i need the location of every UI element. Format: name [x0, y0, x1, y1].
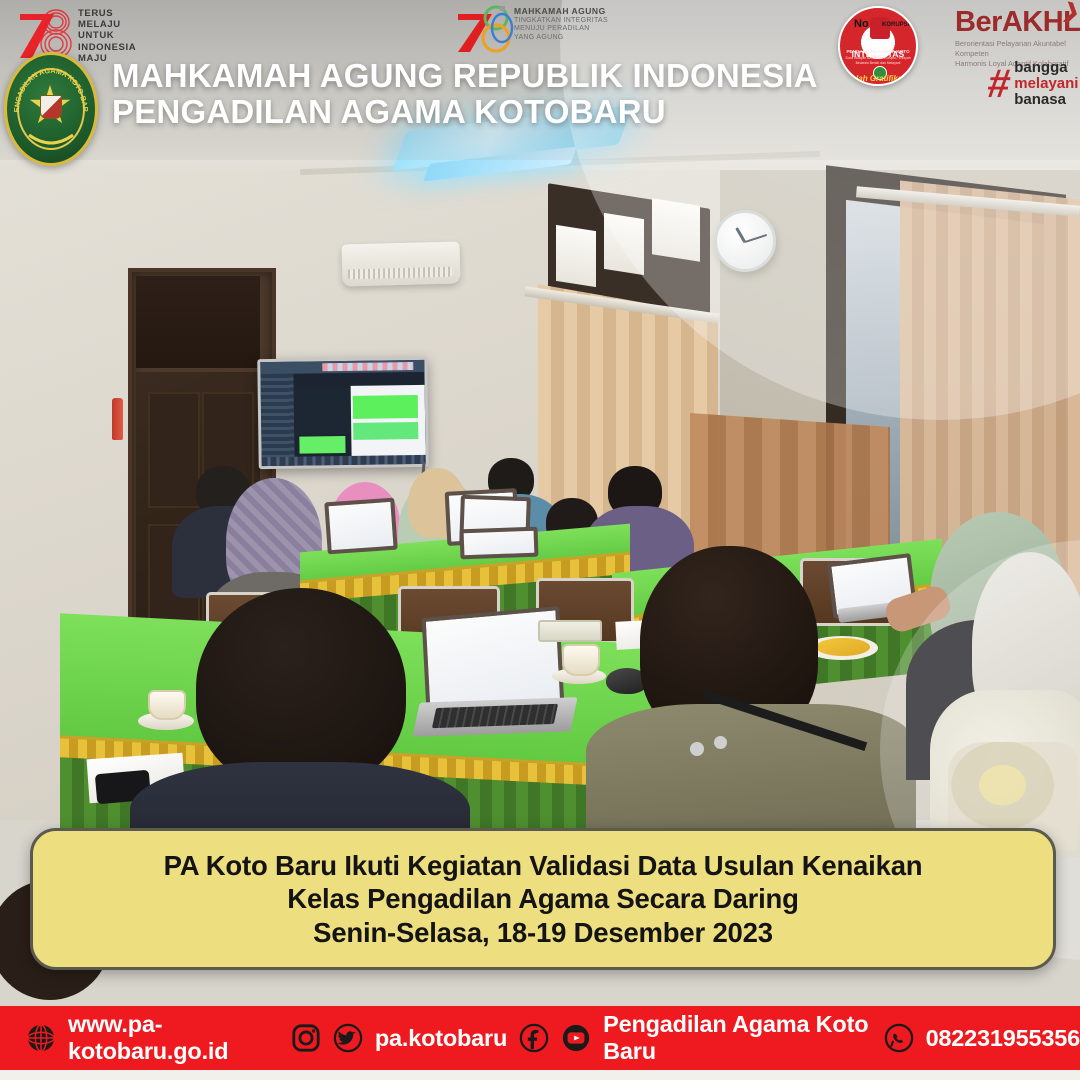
- tv-monitor: [257, 357, 429, 469]
- teacup: [148, 690, 186, 720]
- tissue-box: [538, 620, 602, 642]
- twitter-icon[interactable]: [333, 1023, 363, 1053]
- footer-phone[interactable]: 082231955356: [926, 1025, 1080, 1052]
- footer-social-handle[interactable]: pa.kotobaru: [375, 1025, 507, 1052]
- svg-text:PENGADILAN AGAMA KOTO BARU: PENGADILAN AGAMA KOTO BARU: [7, 55, 90, 113]
- zona-stamp: Telah Gratifikasi: [840, 74, 916, 83]
- uniform-button: [690, 742, 704, 756]
- caption-line-2: Kelas Pengadilan Agama Secara Daring: [287, 882, 798, 916]
- zona-integritas-badge-icon: No KORUPSI ZONA INTEGRITAS PENGADILAN AG…: [838, 6, 918, 86]
- door-panel: [148, 392, 200, 508]
- ma-logo-line3: YANG AGUNG: [514, 34, 608, 43]
- berakhlak-wordmark: BerAKHLAK ❯: [955, 8, 1080, 37]
- tagline-line: INDONESIA: [78, 42, 136, 53]
- footer-bar: www.pa-kotobaru.go.id pa.kotobaru Pengad…: [0, 1006, 1080, 1070]
- stop-hand-icon: [870, 17, 890, 39]
- ma-logo-line1: TINGKATKAN INTEGRITAS: [514, 17, 608, 26]
- zona-korupsi-label: KORUPSI: [882, 22, 909, 28]
- laptop: [460, 527, 539, 560]
- window-pane: [556, 225, 596, 287]
- hashtag-icon: #: [986, 68, 1013, 100]
- snack-food: [816, 638, 870, 656]
- bangga-line2: melayani: [1014, 76, 1078, 92]
- fire-extinguisher-icon: [112, 398, 123, 440]
- caption-box: PA Koto Baru Ikuti Kegiatan Validasi Dat…: [30, 828, 1056, 970]
- court-emblem-icon: PENGADILAN AGAMA KOTO BARU: [4, 52, 98, 166]
- globe-icon[interactable]: [26, 1023, 56, 1053]
- zona-meta: Zona Wilayah Bebas dari Korupsi / Wilaya…: [840, 56, 916, 65]
- laptop: [324, 498, 397, 555]
- bangga-text: bangga melayani banasa: [1014, 60, 1078, 107]
- bangga-melayani-bangsa-logo: # bangga melayani banasa: [988, 60, 1078, 107]
- berakhlak-word-a: BerAKHLA: [955, 6, 1080, 38]
- footer-website[interactable]: www.pa-kotobaru.go.id: [68, 1011, 279, 1065]
- mahkamah-agung-logo-text: MAHKAMAH AGUNG TINGKATKAN INTEGRITAS MEN…: [514, 6, 608, 43]
- footer-base-strip: [0, 1070, 1080, 1080]
- poster-canvas: TERUS MELAJU UNTUK INDONESIA MAJU PENGAD…: [0, 0, 1080, 1080]
- title-line-2: PENGADILAN AGAMA KOTOBARU: [112, 94, 818, 130]
- facebook-icon[interactable]: [519, 1023, 549, 1053]
- tagline-line: MELAJU: [78, 19, 136, 30]
- tagline-line: UNTUK: [78, 30, 136, 41]
- ma-logo-name: MAHKAMAH AGUNG: [514, 6, 608, 17]
- bangga-line3: banasa: [1014, 92, 1078, 108]
- berakhlak-tagline-line1: Berorientasi Pelayanan Akuntabel Kompete…: [955, 39, 1077, 59]
- whatsapp-icon[interactable]: [884, 1023, 914, 1053]
- zona-no-label: No: [854, 18, 869, 30]
- footer-page-name[interactable]: Pengadilan Agama Koto Baru: [603, 1011, 871, 1065]
- page-title: MAHKAMAH AGUNG REPUBLIK INDONESIA PENGAD…: [112, 58, 818, 129]
- instagram-icon[interactable]: [291, 1023, 321, 1053]
- tagline-line: TERUS: [78, 8, 136, 19]
- teacup: [562, 644, 600, 676]
- uniform-button: [714, 736, 727, 749]
- door-transom: [136, 276, 260, 368]
- air-conditioner-icon: [341, 241, 460, 286]
- bangga-line1: bangga: [1014, 60, 1078, 76]
- berakhlak-arrow-icon: ❯: [1061, 0, 1080, 23]
- ma-logo-line2: MENUJU PERADILAN: [514, 25, 608, 34]
- title-line-1: MAHKAMAH AGUNG REPUBLIK INDONESIA: [112, 58, 818, 94]
- youtube-icon[interactable]: [561, 1023, 591, 1053]
- caption-line-3: Senin-Selasa, 18-19 Desember 2023: [313, 916, 773, 950]
- caption-line-1: PA Koto Baru Ikuti Kegiatan Validasi Dat…: [164, 849, 923, 883]
